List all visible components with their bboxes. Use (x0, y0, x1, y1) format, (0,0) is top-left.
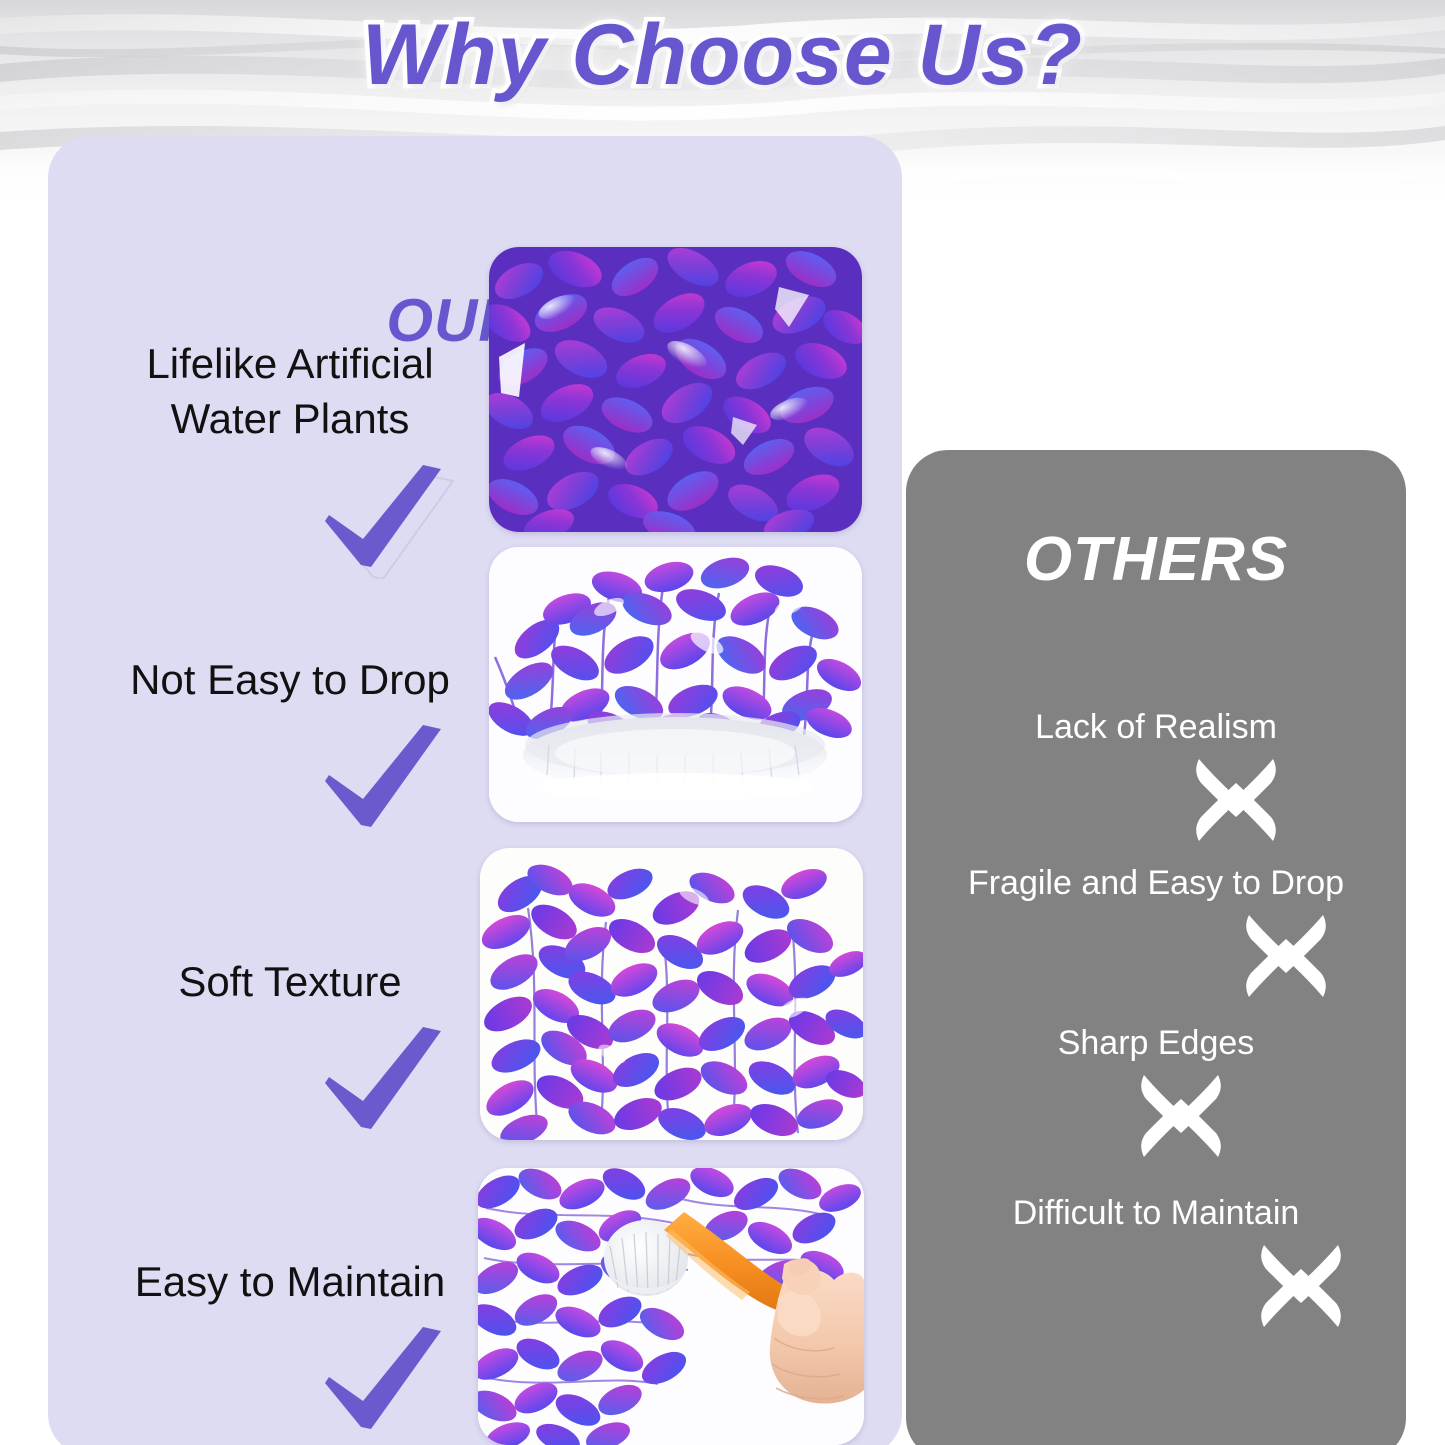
plant-closeup-leaves-image (489, 247, 862, 532)
drawback-label-4: Difficult to Maintain (906, 1192, 1406, 1235)
check-icon (305, 719, 455, 839)
plant-stems-on-white-image (480, 848, 863, 1140)
check-icon (305, 1321, 455, 1441)
feature-label-4: Easy to Maintain (90, 1254, 490, 1309)
check-icon (305, 1021, 455, 1141)
others-header: OTHERS (906, 524, 1406, 595)
page-title: Why Choose Us? (0, 6, 1445, 105)
others-panel: OTHERS Lack of Realism Fragile and Easy … (906, 450, 1406, 1445)
feature-label-3: Soft Texture (90, 954, 490, 1009)
feature-label-2: Not Easy to Drop (90, 652, 490, 707)
drawback-label-3: Sharp Edges (906, 1022, 1406, 1065)
drawback-label-2: Fragile and Easy to Drop (906, 862, 1406, 905)
x-icon (1191, 755, 1281, 845)
feature-row-2: Not Easy to Drop (90, 652, 490, 839)
check-icon (305, 459, 455, 579)
plant-with-white-base-image (489, 547, 862, 822)
drawback-label-1: Lack of Realism (906, 706, 1406, 749)
feature-row-3: Soft Texture (90, 954, 490, 1141)
drawback-row-2: Fragile and Easy to Drop (906, 862, 1406, 1001)
drawback-row-1: Lack of Realism (906, 706, 1406, 845)
x-icon (1256, 1241, 1346, 1331)
infographic-canvas: Why Choose Us? OURS Lifelike Artificial … (0, 0, 1445, 1445)
drawback-row-3: Sharp Edges (906, 1022, 1406, 1161)
feature-row-1: Lifelike Artificial Water Plants (90, 336, 490, 579)
feature-label-1: Lifelike Artificial Water Plants (90, 336, 490, 447)
feature-row-4: Easy to Maintain (90, 1254, 490, 1441)
hand-brushing-plant-image (478, 1168, 864, 1445)
x-icon (1241, 911, 1331, 1001)
drawback-row-4: Difficult to Maintain (906, 1192, 1406, 1331)
x-icon (1136, 1071, 1226, 1161)
